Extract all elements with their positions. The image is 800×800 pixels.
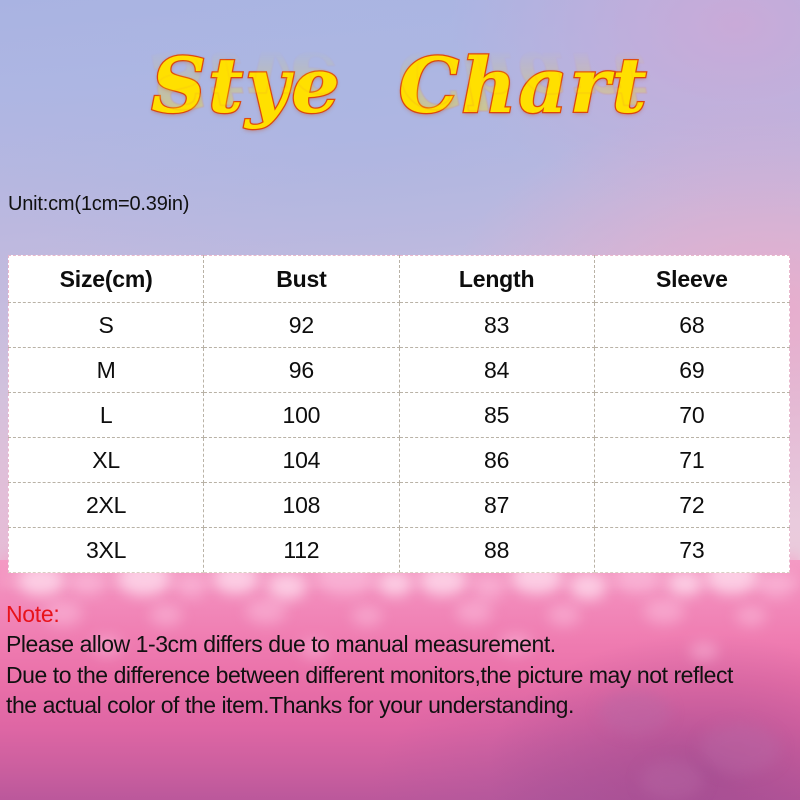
note-line: Please allow 1-3cm differs due to manual…: [6, 629, 798, 659]
table-cell-length: 85: [399, 393, 594, 438]
table-cell-length: 84: [399, 348, 594, 393]
note-label: Note:: [6, 600, 798, 629]
table-cell-bust: 104: [204, 438, 399, 483]
column-header-size: Size(cm): [9, 256, 204, 303]
table-cell-bust: 96: [204, 348, 399, 393]
note-block: Note: Please allow 1-3cm differs due to …: [6, 600, 798, 721]
table-cell-sleeve: 73: [594, 528, 789, 573]
table-cell-size: M: [9, 348, 204, 393]
table-row: XL1048671: [9, 438, 790, 483]
table-cell-sleeve: 72: [594, 483, 789, 528]
table-cell-sleeve: 70: [594, 393, 789, 438]
table-cell-size: L: [9, 393, 204, 438]
table-cell-sleeve: 71: [594, 438, 789, 483]
chart-title-reflection: Stye Chart: [0, 40, 800, 119]
table-row: S928368: [9, 303, 790, 348]
table-cell-length: 88: [399, 528, 594, 573]
table-cell-bust: 108: [204, 483, 399, 528]
table-cell-sleeve: 69: [594, 348, 789, 393]
note-line: the actual color of the item.Thanks for …: [6, 690, 798, 720]
table-cell-size: 3XL: [9, 528, 204, 573]
table-cell-bust: 112: [204, 528, 399, 573]
table-cell-sleeve: 68: [594, 303, 789, 348]
table-cell-size: S: [9, 303, 204, 348]
unit-note: Unit:cm(1cm=0.39in): [8, 193, 189, 216]
table-row: 2XL1088772: [9, 483, 790, 528]
size-chart-table: Size(cm) Bust Length Sleeve S928368M9684…: [8, 255, 790, 573]
column-header-length: Length: [399, 256, 594, 303]
table-cell-bust: 92: [204, 303, 399, 348]
table-cell-length: 83: [399, 303, 594, 348]
table-row: M968469: [9, 348, 790, 393]
column-header-sleeve: Sleeve: [594, 256, 789, 303]
table-cell-length: 86: [399, 438, 594, 483]
chart-title: Stye Chart Stye Chart: [0, 46, 800, 198]
table-row: L1008570: [9, 393, 790, 438]
chart-title-text: Stye Chart: [0, 46, 800, 125]
table-cell-length: 87: [399, 483, 594, 528]
table-cell-bust: 100: [204, 393, 399, 438]
table-header-row: Size(cm) Bust Length Sleeve: [9, 256, 790, 303]
table-cell-size: XL: [9, 438, 204, 483]
note-line: Due to the difference between different …: [6, 660, 798, 690]
table-cell-size: 2XL: [9, 483, 204, 528]
column-header-bust: Bust: [204, 256, 399, 303]
table-row: 3XL1128873: [9, 528, 790, 573]
